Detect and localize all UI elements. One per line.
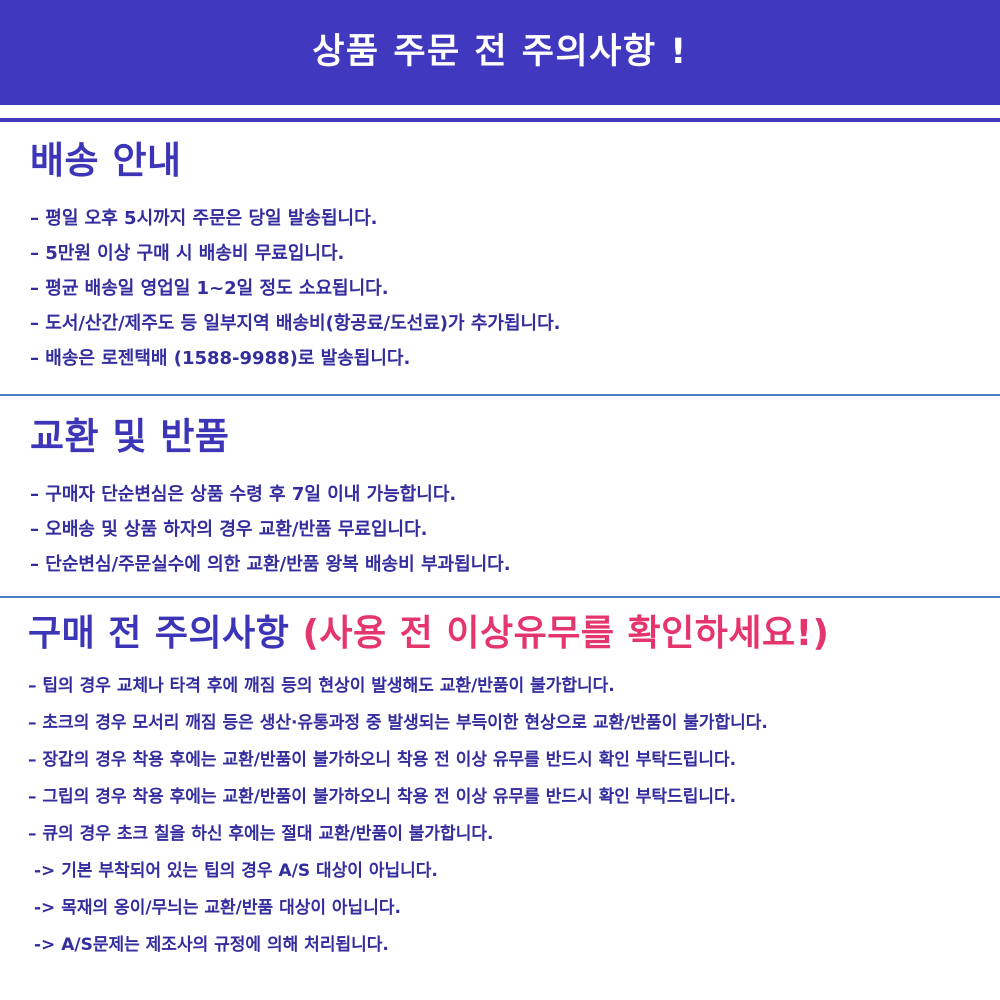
section-heading-shipping: 배송 안내 — [30, 122, 988, 179]
list-item: – 오배송 및 상품 하자의 경우 교환/반품 무료입니다. — [30, 512, 988, 547]
list-item: – 단순변심/주문실수에 의한 교환/반품 왕복 배송비 부과됩니다. — [30, 547, 988, 582]
list-item: – 배송은 로젠택배 (1588-9988)로 발송됩니다. — [30, 341, 988, 376]
page-header-banner: 상품 주문 전 주의사항 ! — [0, 0, 1000, 105]
section-before-purchase: 구매 전 주의사항 (사용 전 이상유무를 확인하세요!) – 팁의 경우 교체… — [0, 598, 1000, 964]
list-item: – 5만원 이상 구매 시 배송비 무료입니다. — [30, 236, 988, 271]
section-heading-before-purchase-main: 구매 전 주의사항 — [28, 613, 302, 654]
list-item: – 평균 배송일 영업일 1~2일 정도 소요됩니다. — [30, 271, 988, 306]
list-item: -> 목재의 옹이/무늬는 교환/반품 대상이 아닙니다. — [28, 890, 988, 927]
list-item: – 평일 오후 5시까지 주문은 당일 발송됩니다. — [30, 201, 988, 236]
section-heading-before-purchase-accent: (사용 전 이상유무를 확인하세요!) — [302, 613, 829, 654]
list-item: – 도서/산간/제주도 등 일부지역 배송비(항공료/도선료)가 추가됩니다. — [30, 306, 988, 341]
shipping-notice-list: – 평일 오후 5시까지 주문은 당일 발송됩니다. – 5만원 이상 구매 시… — [30, 201, 988, 376]
list-item: – 구매자 단순변심은 상품 수령 후 7일 이내 가능합니다. — [30, 477, 988, 512]
section-heading-before-purchase: 구매 전 주의사항 (사용 전 이상유무를 확인하세요!) — [28, 598, 988, 652]
list-item: – 그립의 경우 착용 후에는 교환/반품이 불가하오니 착용 전 이상 유무를… — [28, 779, 988, 816]
page-title: 상품 주문 전 주의사항 ! — [312, 35, 688, 70]
exchange-return-notice-list: – 구매자 단순변심은 상품 수령 후 7일 이내 가능합니다. – 오배송 및… — [30, 477, 988, 582]
list-item: – 초크의 경우 모서리 깨짐 등은 생산·유통과정 중 발생되는 부득이한 현… — [28, 705, 988, 742]
list-item: -> 기본 부착되어 있는 팁의 경우 A/S 대상이 아닙니다. — [28, 853, 988, 890]
list-item: – 큐의 경우 초크 칠을 하신 후에는 절대 교환/반품이 불가합니다. — [28, 816, 988, 853]
section-heading-exchange-return: 교환 및 반품 — [30, 396, 988, 455]
section-exchange-return: 교환 및 반품 – 구매자 단순변심은 상품 수령 후 7일 이내 가능합니다.… — [0, 396, 1000, 582]
list-item: – 장갑의 경우 착용 후에는 교환/반품이 불가하오니 착용 전 이상 유무를… — [28, 742, 988, 779]
list-item: -> A/S문제는 제조사의 규정에 의해 처리됩니다. — [28, 927, 988, 964]
before-purchase-notice-list: – 팁의 경우 교체나 타격 후에 깨짐 등의 현상이 발생해도 교환/반품이 … — [28, 668, 988, 964]
section-shipping: 배송 안내 – 평일 오후 5시까지 주문은 당일 발송됩니다. – 5만원 이… — [0, 122, 1000, 376]
list-item: – 팁의 경우 교체나 타격 후에 깨짐 등의 현상이 발생해도 교환/반품이 … — [28, 668, 988, 705]
